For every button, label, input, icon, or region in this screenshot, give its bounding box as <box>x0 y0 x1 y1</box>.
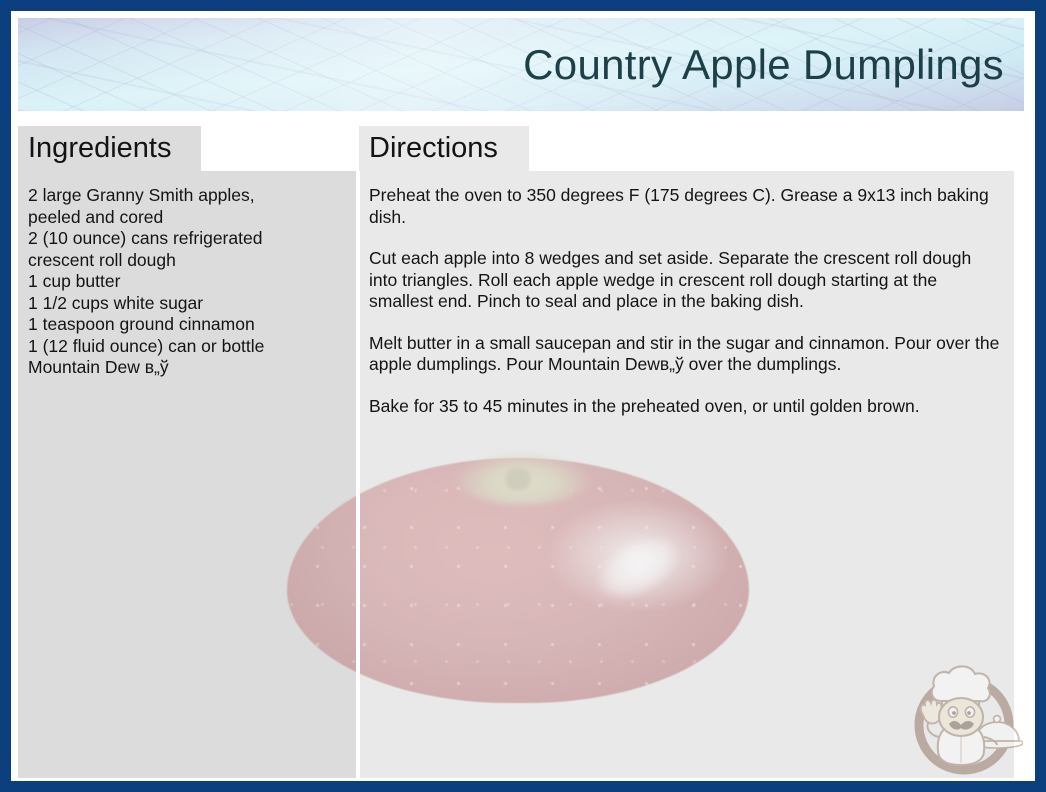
ingredients-panel: 2 large Granny Smith apples, peeled and … <box>18 171 356 778</box>
direction-step: Cut each apple into 8 wedges and set asi… <box>369 248 1002 313</box>
list-item: 1 teaspoon ground cinnamon <box>28 314 344 336</box>
direction-step: Preheat the oven to 350 degrees F (175 d… <box>369 185 1002 228</box>
direction-step: Melt butter in a small saucepan and stir… <box>369 333 1002 376</box>
ingredients-heading: Ingredients <box>18 126 201 171</box>
ingredients-list: 2 large Granny Smith apples, peeled and … <box>28 185 344 379</box>
page-title: Country Apple Dumplings <box>523 41 1004 89</box>
list-item: 2 (10 ounce) cans refrigerated crescent … <box>28 228 344 271</box>
chef-logo <box>905 655 1023 779</box>
list-item: 1 1/2 cups white sugar <box>28 293 344 315</box>
slide-header-banner: Country Apple Dumplings <box>18 18 1024 111</box>
recipe-slide: Country Apple Dumplings Ingredients 2 la… <box>11 11 1035 781</box>
direction-step: Bake for 35 to 45 minutes in the preheat… <box>369 396 1002 418</box>
list-item: 1 cup butter <box>28 271 344 293</box>
list-item: 1 (12 fluid ounce) can or bottle Mountai… <box>28 336 344 379</box>
list-item: 2 large Granny Smith apples, peeled and … <box>28 185 344 228</box>
panel-gutter <box>356 171 360 778</box>
directions-heading: Directions <box>359 126 529 171</box>
